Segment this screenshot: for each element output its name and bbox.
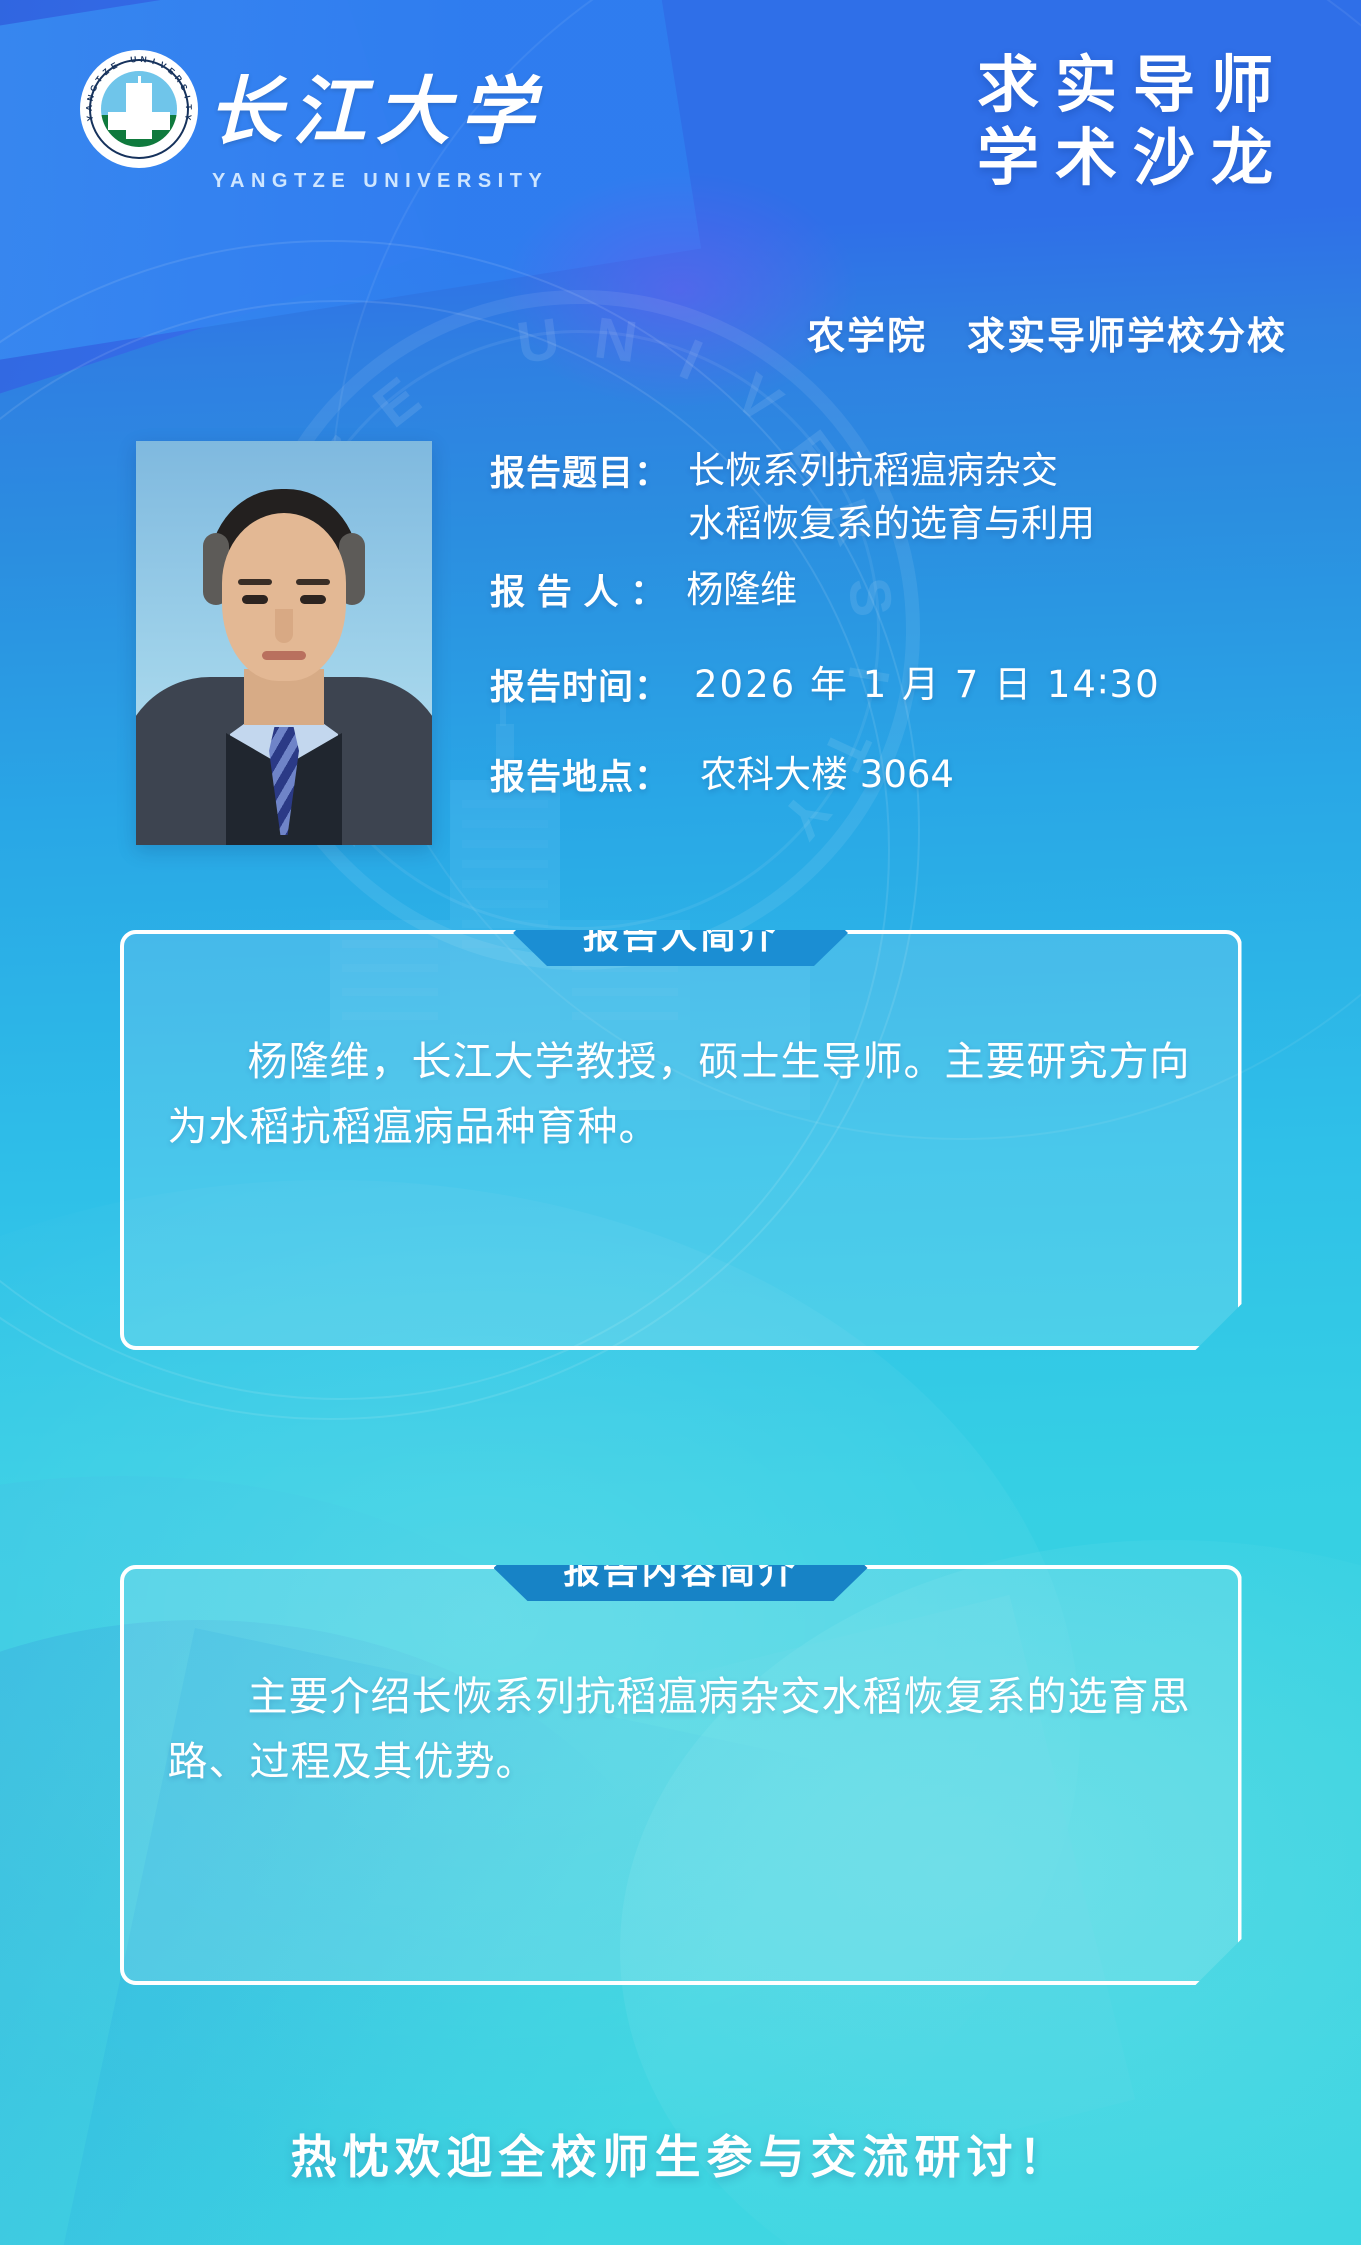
- speaker-bio-card-body: 杨隆维，长江大学教授，硕士生导师。主要研究方向为水稻抗稻瘟病品种育种。: [124, 934, 1238, 1160]
- time-value: 2026 年 1 月 7 日 14∶30: [694, 659, 1161, 712]
- photo-eye-left: [242, 595, 268, 604]
- info-row-speaker: 报 告 人 ： 杨隆维: [490, 564, 1280, 617]
- speaker-label: 报 告 人 ：: [490, 564, 666, 615]
- university-logo: YANGTZE UNIVERSITY: [80, 50, 198, 168]
- university-name-cn: 长江大学: [208, 52, 544, 159]
- photo-brow-left: [238, 579, 272, 585]
- photo-nose: [275, 609, 293, 643]
- report-abstract-card: 报告内容简介 主要介绍长恢系列抗稻瘟病杂交水稻恢复系的选育思路、过程及其优势。: [120, 1565, 1242, 1985]
- place-label: 报告地点：: [490, 749, 670, 800]
- photo-eye-right: [300, 595, 326, 604]
- poster-root: YANGTZE UNIVERSITY: [0, 0, 1361, 2245]
- event-calligraphy-title: 求实导师 学术沙龙: [977, 48, 1289, 194]
- seal-ring-text: YANGTZE UNIVERSITY: [84, 54, 194, 164]
- speaker-bio-card: 报告人简介 杨隆维，长江大学教授，硕士生导师。主要研究方向为水稻抗稻瘟病品种育种…: [120, 930, 1242, 1350]
- info-row-time: 报告时间： 2026 年 1 月 7 日 14∶30: [490, 659, 1280, 712]
- photo-face: [222, 513, 346, 681]
- welcome-footer: 热忱欢迎全校师生参与交流研讨！: [0, 2121, 1361, 2187]
- photo-brow-right: [296, 579, 330, 585]
- report-title-label: 报告题目：: [490, 445, 670, 496]
- report-abstract-card-body: 主要介绍长恢系列抗稻瘟病杂交水稻恢复系的选育思路、过程及其优势。: [124, 1569, 1238, 1795]
- calligraphy-line-2: 学术沙龙: [977, 121, 1289, 194]
- speaker-photo: [136, 441, 432, 845]
- section-speaker-bio: 报告人简介 杨隆维，长江大学教授，硕士生导师。主要研究方向为水稻抗稻瘟病品种育种…: [0, 930, 1361, 1350]
- university-name-en: YANGTZE UNIVERSITY: [212, 170, 548, 193]
- report-title-line-1: 长恢系列抗稻瘟病杂交: [688, 445, 1095, 498]
- info-row-place: 报告地点： 农科大楼 3064: [490, 749, 1280, 802]
- report-abstract-text: 主要介绍长恢系列抗稻瘟病杂交水稻恢复系的选育思路、过程及其优势。: [168, 1665, 1194, 1795]
- university-seal-icon: YANGTZE UNIVERSITY: [80, 50, 198, 168]
- report-title-line-2: 水稻恢复系的选育与利用: [688, 498, 1095, 551]
- place-value: 农科大楼 3064: [700, 749, 954, 802]
- photo-mouth: [262, 651, 306, 660]
- section-report-abstract: 报告内容简介 主要介绍长恢系列抗稻瘟病杂交水稻恢复系的选育思路、过程及其优势。: [0, 1565, 1361, 1985]
- speaker-value: 杨隆维: [686, 564, 797, 617]
- event-subtitle: 农学院 求实导师学校分校: [807, 305, 1287, 360]
- time-label: 报告时间：: [490, 659, 670, 710]
- speaker-bio-text: 杨隆维，长江大学教授，硕士生导师。主要研究方向为水稻抗稻瘟病品种育种。: [168, 1030, 1194, 1160]
- info-row-title: 报告题目： 长恢系列抗稻瘟病杂交 水稻恢复系的选育与利用: [490, 445, 1280, 550]
- report-title-value: 长恢系列抗稻瘟病杂交 水稻恢复系的选育与利用: [670, 445, 1095, 550]
- calligraphy-line-1: 求实导师: [977, 48, 1289, 121]
- event-info-block: 报告题目： 长恢系列抗稻瘟病杂交 水稻恢复系的选育与利用 报 告 人 ： 杨隆维…: [490, 445, 1280, 802]
